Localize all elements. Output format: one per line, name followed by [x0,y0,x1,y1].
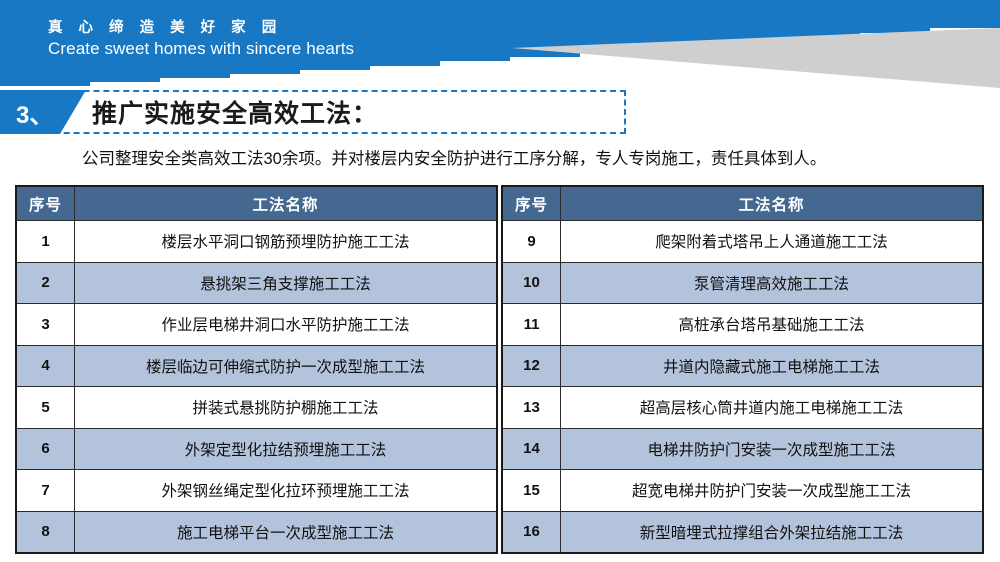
table-row[interactable]: 3 作业层电梯井洞口水平防护施工工法 [16,304,497,346]
table-row[interactable]: 13 超高层核心筒井道内施工电梯施工工法 [502,387,983,429]
cell-method-name: 外架定型化拉结预埋施工工法 [75,428,498,470]
cell-index: 12 [502,345,561,387]
methods-table-left: 序号 工法名称 1 楼层水平洞口钢筋预埋防护施工工法 2 悬挑架三角支撑施工工法… [15,185,498,554]
table-row[interactable]: 5 拼装式悬挑防护棚施工工法 [16,387,497,429]
table-head-left: 序号 工法名称 [16,186,497,221]
cell-index: 14 [502,428,561,470]
methods-tables-container: 序号 工法名称 1 楼层水平洞口钢筋预埋防护施工工法 2 悬挑架三角支撑施工工法… [15,185,985,554]
column-header-index: 序号 [502,186,561,221]
cell-method-name: 超宽电梯井防护门安装一次成型施工工法 [561,470,984,512]
cell-index: 16 [502,511,561,553]
table-row[interactable]: 10 泵管清理高效施工工法 [502,262,983,304]
table-row[interactable]: 4 楼层临边可伸缩式防护一次成型施工工法 [16,345,497,387]
cell-index: 11 [502,304,561,346]
table-body-right: 9 爬架附着式塔吊上人通道施工工法 10 泵管清理高效施工工法 11 高桩承台塔… [502,221,983,554]
cell-index: 4 [16,345,75,387]
cell-method-name: 悬挑架三角支撑施工工法 [75,262,498,304]
methods-table-right: 序号 工法名称 9 爬架附着式塔吊上人通道施工工法 10 泵管清理高效施工工法 … [501,185,984,554]
section-title-text: 推广实施安全高效工法： [92,90,378,134]
table-head-right: 序号 工法名称 [502,186,983,221]
table-row[interactable]: 14 电梯井防护门安装一次成型施工工法 [502,428,983,470]
cell-index: 10 [502,262,561,304]
slide-canvas: 真 心 缔 造 美 好 家 园 Create sweet homes with … [0,0,1000,562]
table-row[interactable]: 15 超宽电梯井防护门安装一次成型施工工法 [502,470,983,512]
table-row[interactable]: 2 悬挑架三角支撑施工工法 [16,262,497,304]
cell-method-name: 拼装式悬挑防护棚施工工法 [75,387,498,429]
cell-method-name: 作业层电梯井洞口水平防护施工工法 [75,304,498,346]
cell-index: 7 [16,470,75,512]
cell-method-name: 外架钢丝绳定型化拉环预埋施工工法 [75,470,498,512]
intro-paragraph: 公司整理安全类高效工法30余项。并对楼层内安全防护进行工序分解，专人专岗施工，责… [14,148,986,171]
cell-method-name: 楼层水平洞口钢筋预埋防护施工工法 [75,221,498,263]
column-header-index: 序号 [16,186,75,221]
column-header-name: 工法名称 [561,186,984,221]
cell-index: 2 [16,262,75,304]
cell-method-name: 楼层临边可伸缩式防护一次成型施工工法 [75,345,498,387]
cell-index: 6 [16,428,75,470]
cell-method-name: 施工电梯平台一次成型施工工法 [75,511,498,553]
table-row[interactable]: 12 井道内隐藏式施工电梯施工工法 [502,345,983,387]
cell-method-name: 新型暗埋式拉撑组合外架拉结施工工法 [561,511,984,553]
table-row[interactable]: 6 外架定型化拉结预埋施工工法 [16,428,497,470]
table-row[interactable]: 9 爬架附着式塔吊上人通道施工工法 [502,221,983,263]
cell-method-name: 井道内隐藏式施工电梯施工工法 [561,345,984,387]
cell-index: 15 [502,470,561,512]
cell-method-name: 高桩承台塔吊基础施工工法 [561,304,984,346]
cell-method-name: 爬架附着式塔吊上人通道施工工法 [561,221,984,263]
header-banner: 真 心 缔 造 美 好 家 园 Create sweet homes with … [0,0,1000,95]
table-row[interactable]: 11 高桩承台塔吊基础施工工法 [502,304,983,346]
cell-index: 3 [16,304,75,346]
table-row[interactable]: 1 楼层水平洞口钢筋预埋防护施工工法 [16,221,497,263]
cell-index: 13 [502,387,561,429]
section-number-label: 3、 [16,90,86,134]
cell-index: 1 [16,221,75,263]
cell-index: 9 [502,221,561,263]
column-header-name: 工法名称 [75,186,498,221]
table-body-left: 1 楼层水平洞口钢筋预埋防护施工工法 2 悬挑架三角支撑施工工法 3 作业层电梯… [16,221,497,554]
cell-index: 8 [16,511,75,553]
table-header-row: 序号 工法名称 [16,186,497,221]
cell-method-name: 超高层核心筒井道内施工电梯施工工法 [561,387,984,429]
table-row[interactable]: 16 新型暗埋式拉撑组合外架拉结施工工法 [502,511,983,553]
table-header-row: 序号 工法名称 [502,186,983,221]
table-row[interactable]: 8 施工电梯平台一次成型施工工法 [16,511,497,553]
table-row[interactable]: 7 外架钢丝绳定型化拉环预埋施工工法 [16,470,497,512]
cell-method-name: 电梯井防护门安装一次成型施工工法 [561,428,984,470]
cell-index: 5 [16,387,75,429]
cell-method-name: 泵管清理高效施工工法 [561,262,984,304]
